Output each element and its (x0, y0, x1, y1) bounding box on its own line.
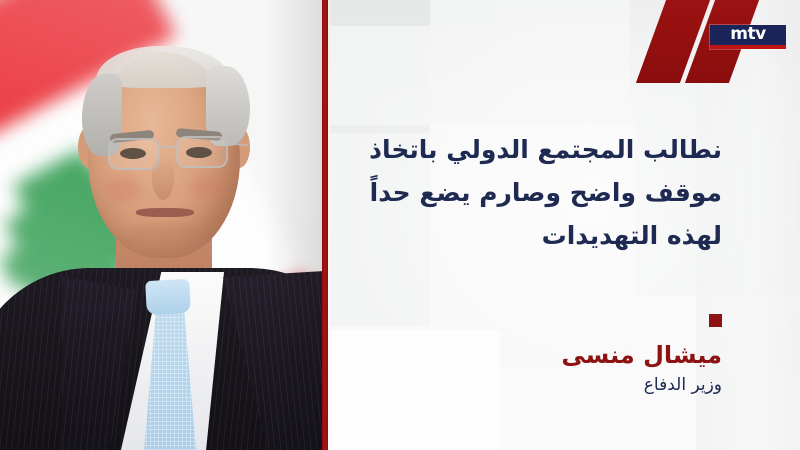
photo-edge-shadow (0, 0, 322, 450)
red-vertical-divider (322, 0, 328, 450)
speaker-name-block: ميشال منسى وزير الدفاع (382, 314, 722, 398)
mtv-channel-logo: mtv (710, 25, 786, 49)
headline-line-3: لهذه التهديدات (340, 214, 722, 257)
speaker-name: ميشال منسى (382, 340, 722, 370)
headline-line-1: نطالب المجتمع الدولي باتخاذ (340, 128, 722, 171)
headline-quote: نطالب المجتمع الدولي باتخاذ موقف واضح وص… (340, 128, 722, 257)
speaker-title: وزير الدفاع (382, 372, 722, 398)
mtv-logo-red-bar (710, 45, 786, 49)
mtv-logo-text: mtv (730, 25, 765, 44)
broadcast-lower-third-graphic: mtv نطالب المجتمع الدولي باتخاذ موقف واض… (0, 0, 800, 450)
square-marker-icon (709, 314, 722, 327)
headline-line-2: موقف واضح وصارم يضع حداً (340, 171, 722, 214)
speaker-photo (0, 0, 322, 450)
